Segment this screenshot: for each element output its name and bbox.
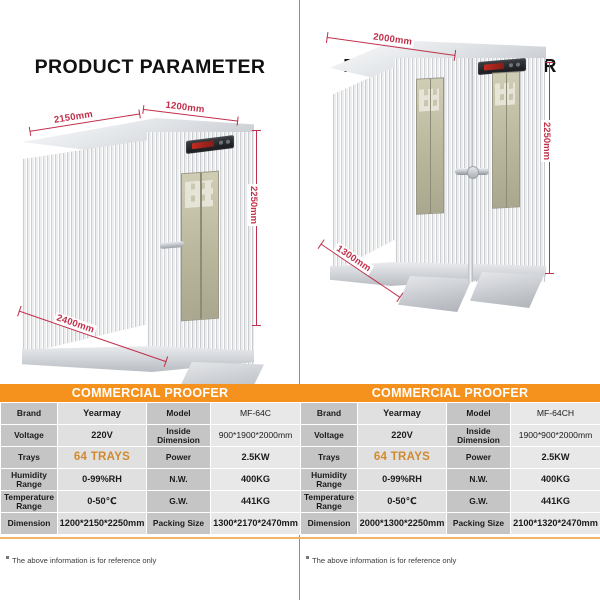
cell-label: Inside Dimension xyxy=(447,425,511,447)
loading-ramp-right-1 xyxy=(398,276,472,312)
table-row: Voltage 220V Inside Dimension 900*1900*2… xyxy=(1,425,301,447)
table-bottom-rule xyxy=(0,537,300,539)
cell-label: Temperature Range xyxy=(301,491,358,513)
window-reflection xyxy=(495,83,515,106)
cell-value: 220V xyxy=(358,425,447,447)
cell-value: 2100*1320*2470mm xyxy=(511,513,600,535)
cell-label: Humidity Range xyxy=(1,469,58,491)
door-window-right-2 xyxy=(492,71,520,208)
cell-value: 900*1900*2000mm xyxy=(211,425,301,447)
cell-label: N.W. xyxy=(447,469,511,491)
cell-label: Packing Size xyxy=(447,513,511,535)
cell-value: 1300*2170*2470mm xyxy=(211,513,301,535)
cell-label: Trays xyxy=(301,447,358,469)
cell-label: Dimension xyxy=(1,513,58,535)
cell-value: 400KG xyxy=(511,469,600,491)
cell-value: 400KG xyxy=(211,469,301,491)
table-row: Dimension 2000*1300*2250mm Packing Size … xyxy=(301,513,600,535)
table-row: Temperature Range 0-50℃ G.W. 441KG xyxy=(301,491,600,513)
spec-table-title-left: COMMERCIAL PROOFER xyxy=(0,384,300,402)
table-row: Humidity Range 0-99%RH N.W. 400KG xyxy=(301,469,600,491)
cell-label: G.W. xyxy=(447,491,511,513)
door-handle-right xyxy=(455,168,489,175)
cell-label: Voltage xyxy=(1,425,58,447)
cell-label: Brand xyxy=(301,403,358,425)
cell-value: MF-64C xyxy=(211,403,301,425)
table-row: Brand Yearmay Model MF-64CH xyxy=(301,403,600,425)
window-mullion xyxy=(506,73,507,207)
cell-label: Model xyxy=(147,403,211,425)
led-display-icon xyxy=(484,63,504,71)
product-illustration-right: 2000mm 2250mm 1300mm xyxy=(300,84,600,384)
window-mullion xyxy=(200,173,202,319)
cabinet-side-right xyxy=(332,66,396,272)
footnote-left: The above information is for reference o… xyxy=(6,556,296,565)
led-display-icon xyxy=(192,141,214,150)
footnote-text: The above information is for reference o… xyxy=(312,556,456,565)
cell-label: Power xyxy=(147,447,211,469)
control-knob-icon xyxy=(219,140,223,144)
cell-value: 0-50℃ xyxy=(58,491,147,513)
cell-value: Yearmay xyxy=(358,403,447,425)
cell-value: Yearmay xyxy=(58,403,147,425)
page-title-left: PRODUCT PARAMETER xyxy=(0,56,300,79)
product-parameter-sheet: PRODUCT PARAMETER 2150mm xyxy=(0,0,600,600)
table-row: Voltage 220V Inside Dimension 1900*900*2… xyxy=(301,425,600,447)
control-knob-icon xyxy=(226,140,230,144)
table-row: Trays 64 TRAYS Power 2.5KW xyxy=(301,447,600,469)
cell-label: Humidity Range xyxy=(301,469,358,491)
spec-table-title-right: COMMERCIAL PROOFER xyxy=(300,384,600,402)
spec-table-right: COMMERCIAL PROOFER Brand Yearmay Model M… xyxy=(300,384,600,539)
cell-value: 2000*1300*2250mm xyxy=(358,513,447,535)
cell-label: Packing Size xyxy=(147,513,211,535)
cell-value: 0-50℃ xyxy=(358,491,447,513)
cell-value: 441KG xyxy=(211,491,301,513)
cell-label: Power xyxy=(447,447,511,469)
door-window-right-1 xyxy=(416,77,444,214)
cell-value: 0-99%RH xyxy=(358,469,447,491)
cell-value: 441KG xyxy=(511,491,600,513)
cell-value: 220V xyxy=(58,425,147,447)
footnote-text: The above information is for reference o… xyxy=(12,556,156,565)
spec-table-left: COMMERCIAL PROOFER Brand Yearmay Model M… xyxy=(0,384,300,539)
cell-value: MF-64CH xyxy=(511,403,600,425)
cell-value: 1900*900*2000mm xyxy=(511,425,600,447)
footnote-right: The above information is for reference o… xyxy=(306,556,596,565)
table-row: Trays 64 TRAYS Power 2.5KW xyxy=(1,447,301,469)
cell-value: 2.5KW xyxy=(211,447,301,469)
window-mullion xyxy=(430,79,431,213)
product-panel-right: PRODUCT PARAMETER xyxy=(300,0,600,600)
product-illustration-left: 2150mm 1200mm 2250mm 2400mm xyxy=(0,84,300,384)
cell-label: Voltage xyxy=(301,425,358,447)
table-bottom-rule xyxy=(300,537,600,539)
cell-label: Inside Dimension xyxy=(147,425,211,447)
cell-value: 2.5KW xyxy=(511,447,600,469)
cell-label: Model xyxy=(447,403,511,425)
door-window-left xyxy=(181,171,219,322)
cell-label: Temperature Range xyxy=(1,491,58,513)
cell-value: 0-99%RH xyxy=(58,469,147,491)
cell-label: Trays xyxy=(1,447,58,469)
loading-ramp-right-2 xyxy=(470,272,544,308)
window-reflection xyxy=(419,89,439,112)
control-knob-icon xyxy=(509,63,513,67)
bullet-icon xyxy=(6,556,9,559)
cell-value-trays: 64 TRAYS xyxy=(358,447,447,469)
cell-label: G.W. xyxy=(147,491,211,513)
control-knob-icon xyxy=(516,62,520,66)
table-row: Humidity Range 0-99%RH N.W. 400KG xyxy=(1,469,301,491)
cell-label: Dimension xyxy=(301,513,358,535)
cell-label: N.W. xyxy=(147,469,211,491)
cell-value-trays: 64 TRAYS xyxy=(58,447,147,469)
table-row: Brand Yearmay Model MF-64C xyxy=(1,403,301,425)
product-panel-left: PRODUCT PARAMETER 2150mm xyxy=(0,0,300,600)
cell-value: 1200*2150*2250mm xyxy=(58,513,147,535)
bullet-icon xyxy=(306,556,309,559)
window-reflection xyxy=(185,180,213,208)
table-row: Temperature Range 0-50℃ G.W. 441KG xyxy=(1,491,301,513)
table-row: Dimension 1200*2150*2250mm Packing Size … xyxy=(1,513,301,535)
cell-label: Brand xyxy=(1,403,58,425)
